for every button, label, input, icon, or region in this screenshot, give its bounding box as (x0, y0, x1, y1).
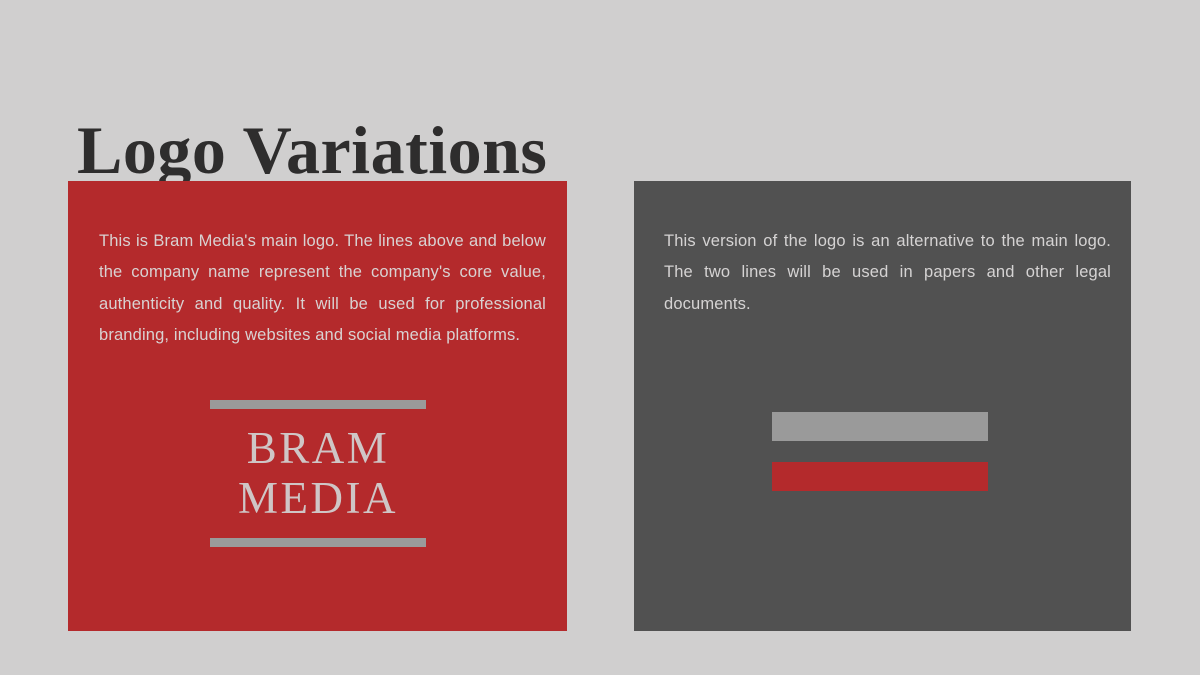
logo-wordmark: BRAM MEDIA (210, 423, 426, 523)
red-bar-icon (772, 462, 988, 491)
logo-rule-top-icon (210, 400, 426, 409)
main-logo-description: This is Bram Media's main logo. The line… (99, 226, 546, 352)
logo-wordmark-line-1: BRAM (210, 423, 426, 473)
alternative-logo-description: This version of the logo is an alternati… (664, 226, 1111, 321)
two-bar-logo-mark (772, 412, 988, 491)
page-title: Logo Variations (77, 116, 547, 184)
main-logo-panel: This is Bram Media's main logo. The line… (68, 181, 567, 631)
alternative-logo-panel: This version of the logo is an alternati… (634, 181, 1131, 631)
logo-wordmark-line-2: MEDIA (210, 473, 426, 523)
slide-canvas: Logo Variations This is Bram Media's mai… (0, 0, 1200, 675)
logo-rule-bottom-icon (210, 538, 426, 547)
gray-bar-icon (772, 412, 988, 441)
bram-media-logo: BRAM MEDIA (210, 400, 426, 547)
